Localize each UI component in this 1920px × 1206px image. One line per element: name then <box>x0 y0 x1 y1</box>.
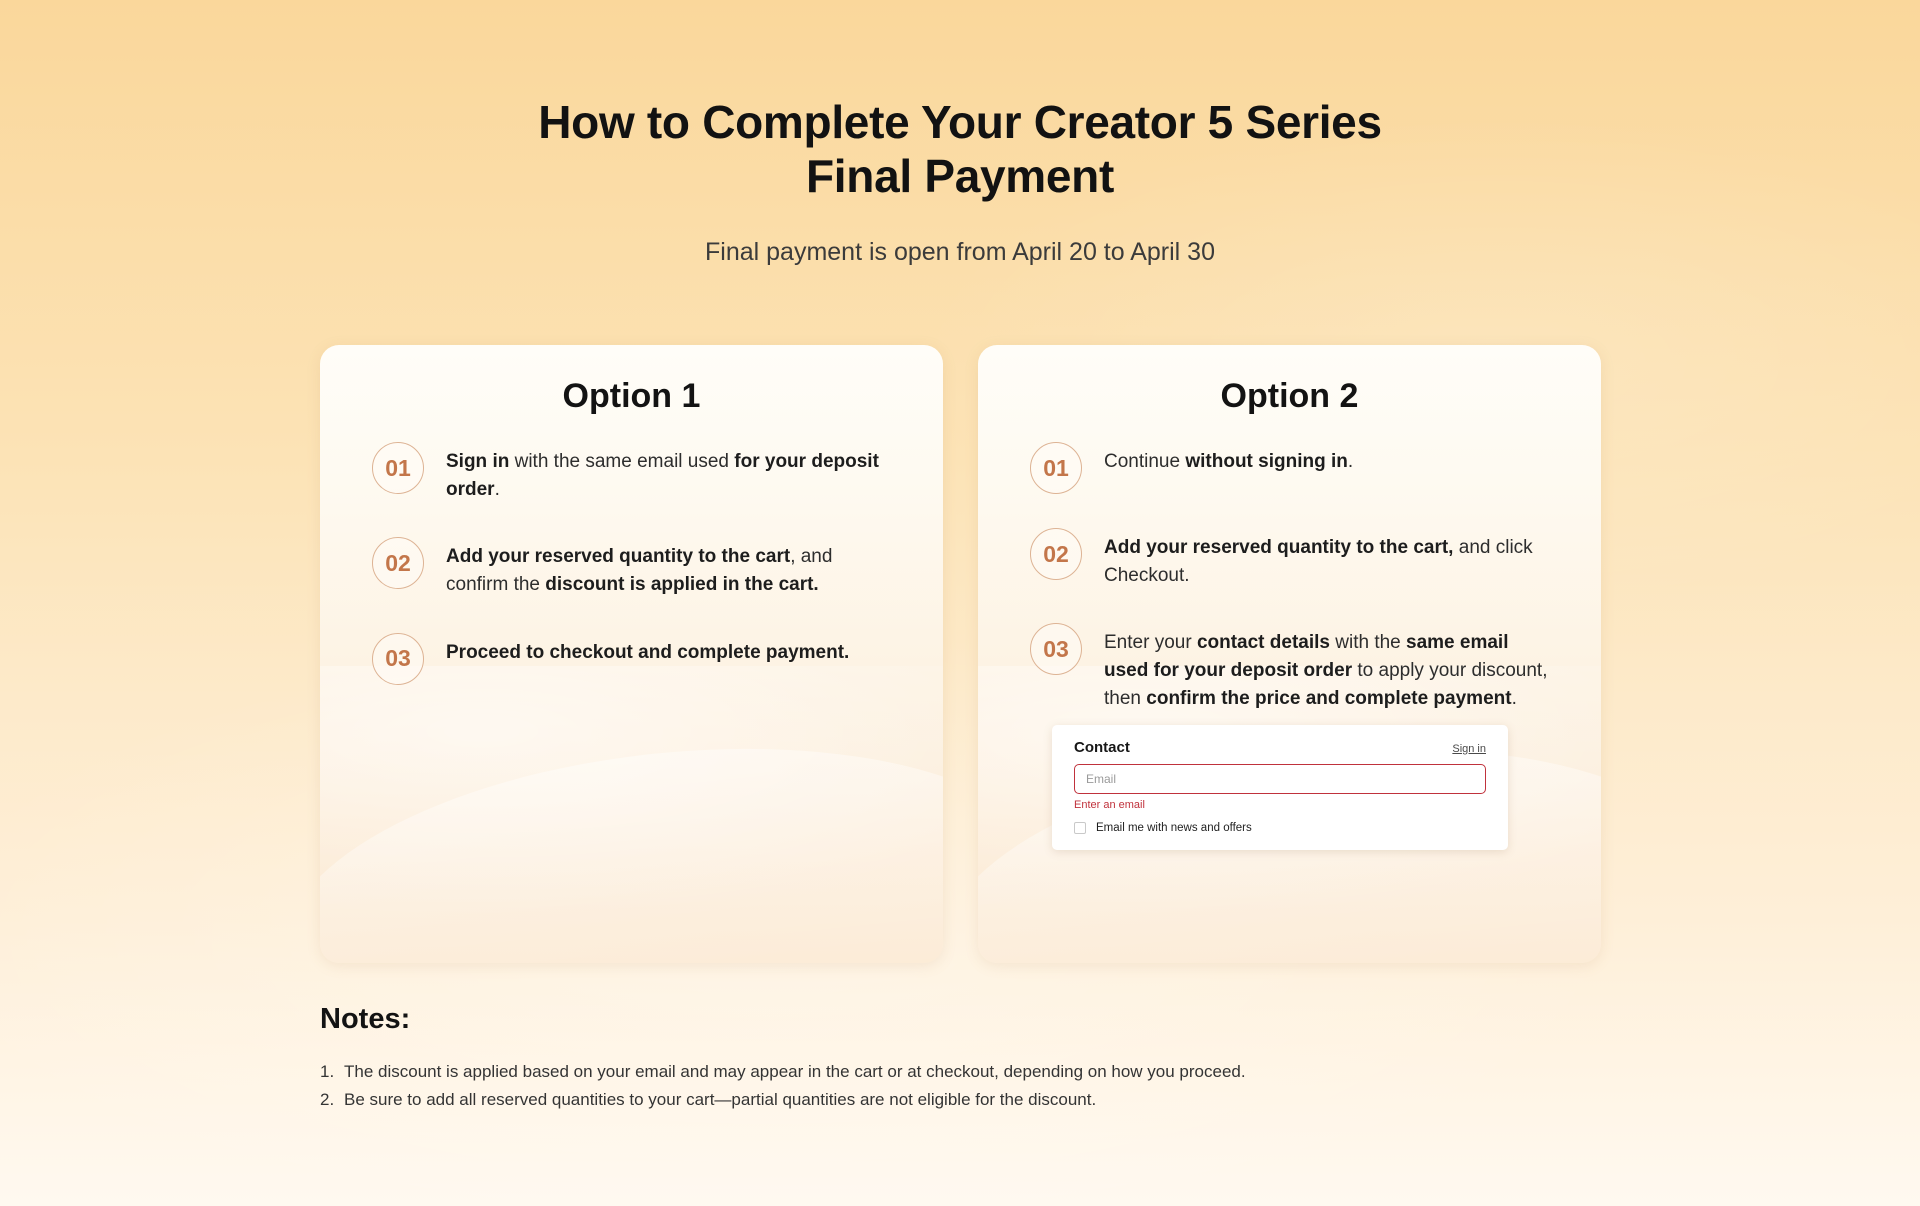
step-text-bold: Add your reserved quantity to the cart <box>446 546 790 567</box>
option-2-step-1-text: Continue without signing in. <box>1082 442 1553 476</box>
step-number-badge: 03 <box>1030 623 1082 675</box>
notes-title: Notes: <box>320 1003 1720 1036</box>
option-1-step-1-text: Sign in with the same email used for you… <box>424 442 895 503</box>
page-title-line-2: Final Payment <box>0 150 1920 204</box>
note-index: 1. <box>320 1058 344 1086</box>
step-number-badge: 03 <box>372 633 424 685</box>
option-2-step-1: 01 Continue without signing in. <box>1030 442 1553 528</box>
option-2-steps: 01 Continue without signing in. 02 Add y… <box>978 442 1601 713</box>
checkout-newsletter-label: Email me with news and offers <box>1096 822 1252 834</box>
step-badge-column: 02 <box>1030 528 1082 580</box>
step-text-bold: Sign in <box>446 451 509 472</box>
step-text-normal: . <box>1512 688 1517 709</box>
checkout-newsletter-checkbox[interactable] <box>1074 822 1086 834</box>
note-index: 2. <box>320 1086 344 1114</box>
checkout-contact-screenshot: Contact Sign in Email Enter an email Ema… <box>1052 725 1508 850</box>
card-swoosh-decoration <box>320 713 943 963</box>
notes-section: Notes: 1. The discount is applied based … <box>320 1003 1720 1113</box>
step-text-normal: . <box>495 479 500 500</box>
infographic-page: How to Complete Your Creator 5 Series Fi… <box>0 0 1920 1206</box>
option-2-step-3: 03 Enter your contact details with the s… <box>1030 623 1553 712</box>
step-text-bold: confirm the price and complete payment <box>1146 688 1511 709</box>
checkout-email-error: Enter an email <box>1074 799 1486 811</box>
option-1-card: Option 1 01 Sign in with the same email … <box>320 345 943 963</box>
option-1-steps: 01 Sign in with the same email used for … <box>320 442 943 717</box>
option-1-step-1: 01 Sign in with the same email used for … <box>372 442 895 537</box>
step-text-bold: Proceed to checkout and complete payment… <box>446 642 849 663</box>
step-number-badge: 02 <box>1030 528 1082 580</box>
step-text-normal: Enter your <box>1104 632 1197 653</box>
note-item: 2. Be sure to add all reserved quantitie… <box>320 1086 1720 1114</box>
step-number-badge: 01 <box>372 442 424 494</box>
option-2-card: Option 2 01 Continue without signing in.… <box>978 345 1601 963</box>
step-text-bold: without signing in <box>1185 451 1348 472</box>
checkout-signin-link[interactable]: Sign in <box>1452 743 1486 755</box>
option-1-step-3-text: Proceed to checkout and complete payment… <box>424 633 895 667</box>
step-text-normal: . <box>1348 451 1353 472</box>
page-subtitle: Final payment is open from April 20 to A… <box>0 238 1920 267</box>
step-text-normal: Continue <box>1104 451 1185 472</box>
option-2-step-2: 02 Add your reserved quantity to the car… <box>1030 528 1553 623</box>
option-2-step-2-text: Add your reserved quantity to the cart, … <box>1082 528 1553 589</box>
checkout-header-row: Contact Sign in <box>1074 739 1486 756</box>
options-container: Option 1 01 Sign in with the same email … <box>320 345 1601 963</box>
option-1-step-2: 02 Add your reserved quantity to the car… <box>372 537 895 632</box>
step-badge-column: 01 <box>372 442 424 494</box>
checkout-contact-heading: Contact <box>1074 739 1130 756</box>
note-item: 1. The discount is applied based on your… <box>320 1058 1720 1086</box>
checkout-email-input[interactable]: Email <box>1074 764 1486 794</box>
step-text-bold: contact details <box>1197 632 1330 653</box>
step-badge-column: 02 <box>372 537 424 589</box>
step-text-bold: Add your reserved quantity to the cart, <box>1104 537 1453 558</box>
step-text-normal: with the <box>1330 632 1406 653</box>
notes-list: 1. The discount is applied based on your… <box>320 1058 1720 1113</box>
checkout-newsletter-row[interactable]: Email me with news and offers <box>1074 822 1486 834</box>
page-header: How to Complete Your Creator 5 Series Fi… <box>0 96 1920 267</box>
step-number-badge: 02 <box>372 537 424 589</box>
note-text: Be sure to add all reserved quantities t… <box>344 1086 1720 1114</box>
step-text-normal: with the same email used <box>509 451 734 472</box>
note-text: The discount is applied based on your em… <box>344 1058 1720 1086</box>
step-badge-column: 03 <box>372 633 424 685</box>
option-1-title: Option 1 <box>320 345 943 416</box>
step-badge-column: 01 <box>1030 442 1082 494</box>
step-text-bold: discount is applied in the cart. <box>545 574 818 595</box>
option-2-title: Option 2 <box>978 345 1601 416</box>
page-title-line-1: How to Complete Your Creator 5 Series <box>0 96 1920 150</box>
step-badge-column: 03 <box>1030 623 1082 675</box>
option-1-step-2-text: Add your reserved quantity to the cart, … <box>424 537 895 598</box>
step-number-badge: 01 <box>1030 442 1082 494</box>
page-title: How to Complete Your Creator 5 Series Fi… <box>0 96 1920 204</box>
option-1-step-3: 03 Proceed to checkout and complete paym… <box>372 633 895 717</box>
option-2-step-3-text: Enter your contact details with the same… <box>1082 623 1553 712</box>
